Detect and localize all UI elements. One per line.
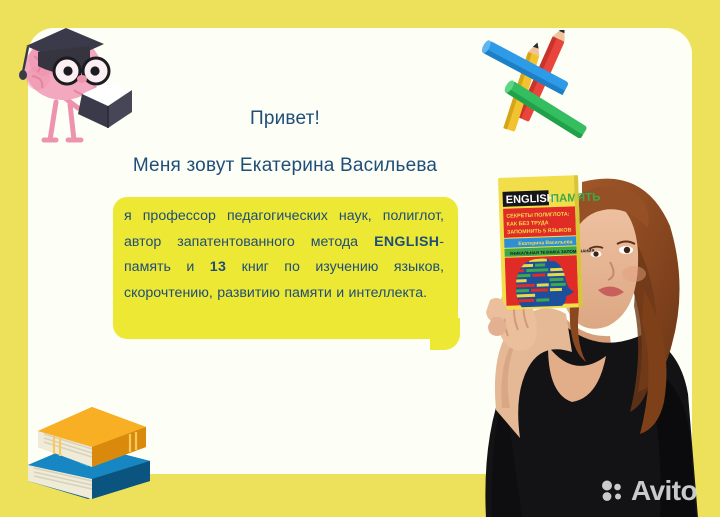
stacked-books-icon bbox=[18, 385, 158, 503]
presenter-woman-illustration: ENGLISH ПАМЯТЬ СЕКРЕТЫ ПОЛИГЛОТА: КАК БЕ… bbox=[430, 150, 720, 517]
presenter-name-heading: Меня зовут Екатерина Васильева bbox=[110, 155, 460, 177]
avito-watermark: Avito bbox=[600, 477, 697, 505]
colored-pencils-icon bbox=[472, 30, 602, 138]
presenter-photo: ENGLISH ПАМЯТЬ СЕКРЕТЫ ПОЛИГЛОТА: КАК БЕ… bbox=[430, 150, 720, 517]
bio-text-emphasis: 13 bbox=[210, 259, 226, 275]
bio-text: я профессор педагогических наук, полигло… bbox=[124, 204, 444, 306]
avito-wordmark: Avito bbox=[631, 477, 697, 505]
greeting-heading: Привет! bbox=[120, 108, 450, 130]
colored-pencils-illustration bbox=[472, 30, 602, 138]
stacked-books-illustration bbox=[18, 385, 158, 503]
avito-dots-logo-icon bbox=[600, 480, 626, 502]
svg-text:ENGLISH: ENGLISH bbox=[506, 193, 555, 207]
advertisement-canvas: ENGLISH ПАМЯТЬ СЕКРЕТЫ ПОЛИГЛОТА: КАК БЕ… bbox=[0, 0, 720, 517]
bio-text-emphasis: ENGLISH bbox=[374, 234, 439, 250]
